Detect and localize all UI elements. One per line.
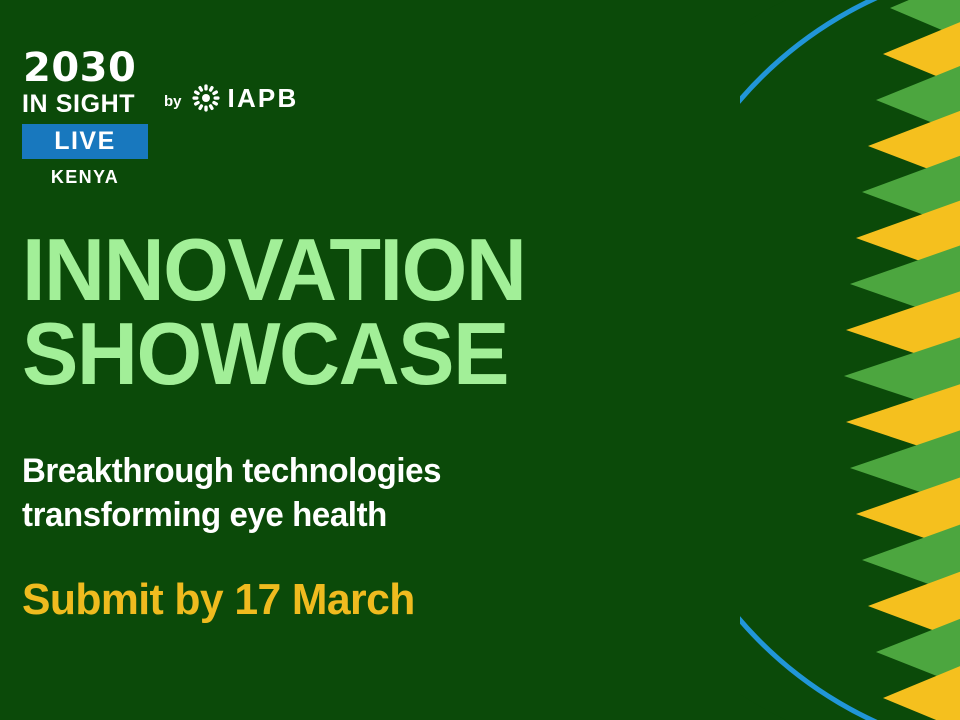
live-badge: LIVE <box>22 124 148 159</box>
brand-logo-lockup: 2030 IN SIGHT by <box>22 48 352 188</box>
iapb-starburst-icon <box>191 83 221 113</box>
motif-mask-band <box>740 0 960 720</box>
iapb-logo: IAPB <box>191 83 299 113</box>
logo-year: 2030 <box>23 48 136 88</box>
logo-by-label: by <box>164 93 182 110</box>
page-title: INNOVATION SHOWCASE <box>22 228 525 397</box>
logo-top-row: 2030 IN SIGHT by <box>22 48 352 117</box>
iapb-wordmark: IAPB <box>228 85 299 111</box>
live-badge-label: LIVE <box>54 129 116 154</box>
motif-triangles <box>844 0 960 720</box>
page-subtitle-line-1: Breakthrough technologies <box>22 452 441 490</box>
country-label: KENYA <box>22 167 148 188</box>
logo-2030-insight: 2030 IN SIGHT <box>22 48 150 117</box>
page-title-line-2: SHOWCASE <box>22 312 525 396</box>
radial-triangle-arc-pattern <box>740 0 960 720</box>
page-subtitle-line-2: transforming eye health <box>22 494 441 538</box>
logo-tagline: IN SIGHT <box>22 91 135 117</box>
motif-blue-arc <box>740 0 960 720</box>
page-subtitle: Breakthrough technologies transforming e… <box>22 450 441 537</box>
submission-deadline: Submit by 17 March <box>22 578 415 622</box>
promo-poster: 2030 IN SIGHT by <box>0 0 960 720</box>
